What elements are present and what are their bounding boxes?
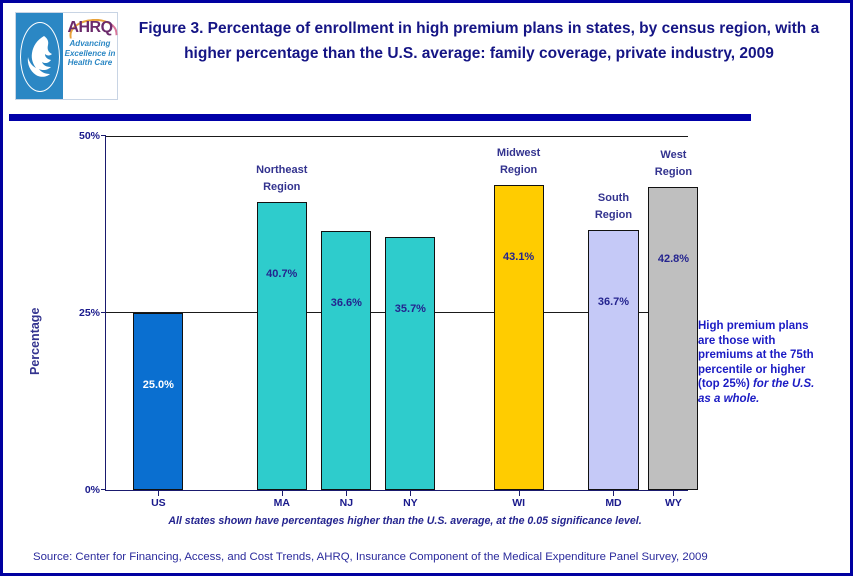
- ahrq-tagline: Advancing Excellence in Health Care: [65, 39, 116, 68]
- bar-group: 25.0%US: [133, 136, 183, 490]
- region-label-line-1: West: [655, 147, 692, 164]
- x-tick-label-wy: WY: [665, 497, 682, 509]
- side-note-l4: at the 75th: [756, 349, 814, 361]
- region-label: SouthRegion: [595, 190, 632, 224]
- region-label-line-1: South: [595, 190, 632, 207]
- bar-wi[interactable]: [494, 185, 544, 490]
- plot-region: 0%25%50% 25.0%USNortheastRegion40.7%MA36…: [105, 136, 688, 491]
- side-note-l5: percentile or: [698, 364, 767, 376]
- bar-us[interactable]: [133, 313, 183, 490]
- bar-value-label: 43.1%: [503, 251, 534, 263]
- chart-footnote: All states shown have percentages higher…: [105, 515, 705, 527]
- x-tick-mark: [613, 490, 614, 496]
- x-tick-label-us: US: [151, 497, 166, 509]
- bar-md[interactable]: [588, 230, 638, 490]
- x-tick-mark: [410, 490, 411, 496]
- hhs-seal-icon: [16, 13, 63, 99]
- bar-value-label: 36.7%: [598, 296, 629, 308]
- source-line: Source: Center for Financing, Access, an…: [33, 551, 833, 563]
- bar-group: MidwestRegion43.1%WI: [494, 136, 544, 490]
- region-label-line-2: Region: [256, 179, 307, 196]
- side-note-l1: High premium: [698, 320, 775, 332]
- ahrq-hhs-logo: AHRQ Advancing Excellence in Health Care: [15, 12, 118, 100]
- y-tick-label: 25%: [79, 307, 106, 319]
- ahrq-logo-block: AHRQ Advancing Excellence in Health Care: [63, 13, 117, 99]
- figure-frame: AHRQ Advancing Excellence in Health Care…: [0, 0, 853, 576]
- figure-header: AHRQ Advancing Excellence in Health Care…: [6, 6, 851, 108]
- x-tick-mark: [519, 490, 520, 496]
- ahrq-tagline-line-3: Health Care: [65, 58, 116, 68]
- x-tick-mark: [346, 490, 347, 496]
- region-label: NortheastRegion: [256, 162, 307, 196]
- bar-ny[interactable]: [385, 237, 435, 490]
- x-tick-mark: [673, 490, 674, 496]
- bar-value-label: 42.8%: [658, 253, 689, 265]
- region-label-line-1: Midwest: [497, 145, 540, 162]
- ahrq-tagline-line-2: Excellence in: [65, 49, 116, 59]
- x-tick-label-md: MD: [605, 497, 621, 509]
- figure-title: Figure 3. Percentage of enrollment in hi…: [126, 16, 832, 66]
- y-tick-label: 0%: [85, 484, 106, 496]
- bar-value-label: 25.0%: [143, 379, 174, 391]
- region-label-line-2: Region: [655, 164, 692, 181]
- region-label: MidwestRegion: [497, 145, 540, 179]
- chart-area: Percentage 0%25%50% 25.0%USNortheastRegi…: [6, 123, 851, 543]
- x-tick-label-nj: NJ: [340, 497, 353, 509]
- bar-nj[interactable]: [321, 231, 371, 490]
- side-note-l7-italic: for the: [750, 378, 789, 390]
- bar-value-label: 35.7%: [395, 303, 426, 315]
- x-tick-label-wi: WI: [512, 497, 525, 509]
- bar-group: 35.7%NY: [385, 136, 435, 490]
- bar-wy[interactable]: [648, 187, 698, 490]
- region-label-line-2: Region: [497, 162, 540, 179]
- bar-value-label: 40.7%: [266, 268, 297, 280]
- bar-ma[interactable]: [257, 202, 307, 490]
- ahrq-tagline-line-1: Advancing: [65, 39, 116, 49]
- side-note: High premium plans are those with premiu…: [698, 319, 824, 407]
- region-label-line-2: Region: [595, 207, 632, 224]
- hhs-eagle-icon: [25, 33, 53, 79]
- x-tick-mark: [282, 490, 283, 496]
- bar-group: NortheastRegion40.7%MA: [257, 136, 307, 490]
- ahrq-wordmark: AHRQ: [67, 20, 112, 36]
- region-label-line-1: Northeast: [256, 162, 307, 179]
- x-tick-mark: [158, 490, 159, 496]
- x-tick-label-ny: NY: [403, 497, 418, 509]
- side-note-l7: 25%): [723, 378, 750, 390]
- y-axis-title: Percentage: [28, 308, 42, 375]
- x-tick-label-ma: MA: [274, 497, 290, 509]
- bar-group: SouthRegion36.7%MD: [588, 136, 638, 490]
- bar-group: WestRegion42.8%WY: [648, 136, 698, 490]
- region-label: WestRegion: [655, 147, 692, 181]
- bar-group: 36.6%NJ: [321, 136, 371, 490]
- y-tick-label: 50%: [79, 130, 106, 142]
- header-divider: [9, 114, 751, 121]
- bar-value-label: 36.6%: [331, 297, 362, 309]
